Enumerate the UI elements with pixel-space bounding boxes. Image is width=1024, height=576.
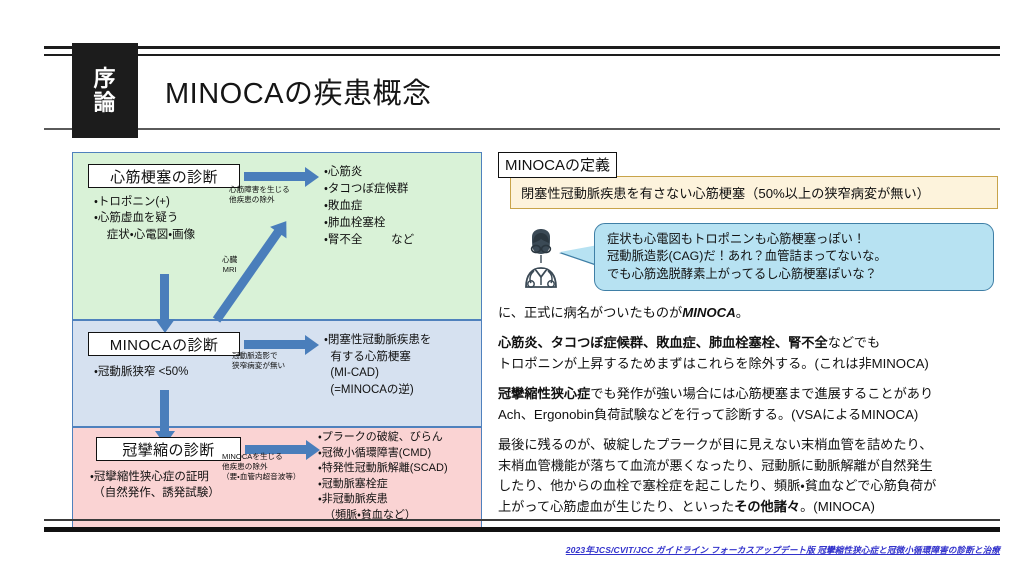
mi-arrow-label: 心筋障害を生じる 他疾患の除外: [229, 185, 290, 205]
diagnosis-box-mi: 心筋梗塞の診断: [88, 164, 240, 188]
vasospasm-arrow-label: MINOCAを生じる 他疾患の除外 （要・血管内超音波等）: [222, 452, 301, 482]
paragraph-minoca-naming: に、正式に病名がついたものがMINOCA。: [498, 303, 1003, 323]
non-minoca-conditions: 心筋炎、タコつぼ症候群、敗血症、肺血栓塞栓、腎不全: [498, 335, 828, 350]
header-rule-top-second: [44, 54, 1000, 56]
arrow-right-mi: [244, 172, 306, 181]
paragraph-vsa-minoca: 冠攣縮性狭心症でも発作が強い場合には心筋梗塞まで進展することがあり Ach、Er…: [498, 384, 1003, 425]
right-column: MINOCAの定義 閉塞性冠動脈疾患を有さない心筋梗塞（50%以上の狭窄病変が無…: [498, 152, 1003, 517]
header-rule-top: [44, 46, 1000, 49]
mi-left-bullets: ・トロポニン(+) ・心筋虚血を疑う 症状・心電図・画像: [94, 194, 195, 243]
paragraph-true-minoca: 最後に残るのが、破綻したプラークが目に見えない末梢血管を詰めたり、 末梢血管機能…: [498, 435, 1003, 517]
arrow-down-mi-to-minoca: [160, 274, 169, 320]
diagram-flowchart: 心筋梗塞の診断 ・トロポニン(+) ・心筋虚血を疑う 症状・心電図・画像 心筋障…: [72, 152, 482, 530]
page-title: MINOCAの疾患概念: [165, 70, 432, 112]
vasospasm-right-bullets: ・プラークの破綻、びらん ・冠微小循環障害(CMD) ・特発性冠動脈解離(SCA…: [318, 430, 448, 524]
paragraph-non-minoca: 心筋炎、タコつぼ症候群、敗血症、肺血栓塞栓、腎不全などでも トロポニンが上昇する…: [498, 333, 1003, 374]
minoca-left-bullets: ・冠動脈狭窄 <50%: [94, 364, 188, 380]
arrow-right-minoca: [244, 340, 306, 349]
true-minoca-post: 。(MINOCA): [800, 499, 875, 514]
true-minoca-bold: その他諸々: [734, 499, 800, 514]
naming-pre: に、正式に病名がついたものが: [498, 305, 682, 320]
slide-root: 序 論 MINOCAの疾患概念 心筋梗塞の診断 ・トロポニン(+) ・心筋虚血を…: [0, 0, 1024, 576]
definition-label: MINOCAの定義: [498, 152, 617, 178]
diagnosis-box-vasospasm: 冠攣縮の診断: [96, 437, 241, 461]
definition-block: MINOCAの定義 閉塞性冠動脈疾患を有さない心筋梗塞（50%以上の狭窄病変が無…: [498, 152, 1003, 209]
footer-rule-thick: [44, 527, 1000, 532]
diagnosis-box-minoca: MINOCAの診断: [88, 332, 240, 356]
naming-post: 。: [736, 305, 749, 320]
footer-citation: 2023年JCS/CVIT/JCC ガイドライン フォーカスアップデート版 冠攣…: [566, 544, 1000, 556]
bubble-tail: [560, 245, 598, 265]
footer-rule-thin: [44, 519, 1000, 521]
doctor-bubble-row: 症状も心電図もトロポニンも心筋梗塞っぽい！ 冠動脈造影(CAG)だ！あれ？血管詰…: [498, 223, 1003, 295]
vsa-term: 冠攣縮性狭心症: [498, 386, 590, 401]
section-tab: 序 論: [72, 43, 138, 138]
definition-box: 閉塞性冠動脈疾患を有さない心筋梗塞（50%以上の狭窄病変が無い）: [510, 176, 998, 209]
mi-right-bullets: ・心筋炎 ・タコつぼ症候群 ・敗血症 ・肺血栓塞栓 ・腎不全 など: [324, 164, 414, 248]
header-rule-bottom: [44, 128, 1000, 130]
section-tab-char-1: 序: [93, 67, 116, 91]
vasospasm-left-bullets: ・冠攣縮性狭心症の証明 （自然発作、誘発試験）: [90, 469, 220, 502]
arrow-down-minoca-to-vasospasm: [160, 390, 169, 432]
minoca-right-bullets: ・閉塞性冠動脈疾患を 有する心筋梗塞 (MI-CAD) (=MINOCAの逆): [324, 332, 431, 399]
doctor-speech-bubble: 症状も心電図もトロポニンも心筋梗塞っぽい！ 冠動脈造影(CAG)だ！あれ？血管詰…: [594, 223, 994, 291]
naming-term: MINOCA: [682, 305, 735, 320]
minoca-arrow-label: 冠動脈造影で 狭窄病変が無い: [232, 351, 285, 371]
cardiac-mri-label: 心臓 MRI: [222, 255, 237, 275]
section-tab-char-2: 論: [93, 91, 116, 115]
